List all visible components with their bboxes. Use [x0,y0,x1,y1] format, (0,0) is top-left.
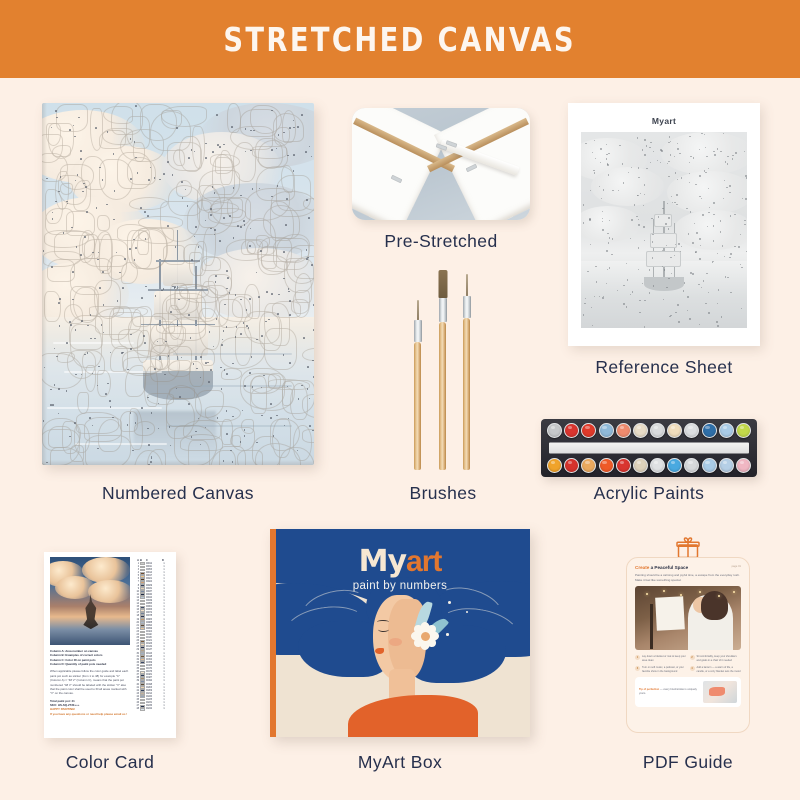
paint-pot [736,458,751,473]
canvas-artwork [42,103,314,465]
pot-quantity: 1 [162,693,166,695]
area-number: 1 [134,563,139,565]
color-code: 00236 [146,705,161,707]
color-code: 00115 [146,637,161,639]
area-number: 35 [134,668,139,670]
pot-quantity: 1 [162,603,166,605]
area-number: 6 [134,578,139,580]
area-number: 12 [134,597,139,599]
area-number: 32 [134,659,139,661]
color-code: 00024 [146,581,161,583]
color-code: 00099 [146,628,161,630]
pot-quantity: 1 [162,566,166,568]
acrylic-paints-image [541,419,757,477]
logo-text-my: My [359,544,406,579]
page-title: STRETCHED CANVAS [224,20,577,59]
pdf-tip: 4Add a lantern — a warm of life, a candl… [690,666,742,674]
paint-pot [684,423,699,438]
area-number: 10 [134,591,139,593]
pot-quantity: 1 [162,662,166,664]
color-code: 00110 [146,634,161,636]
pre-stretched-image [352,108,530,220]
sparkle-dot [448,601,451,604]
brush-bristles [417,300,419,320]
color-code: 00181 [146,674,161,676]
area-number: 46 [134,702,139,704]
color-code: 00242 [146,708,161,710]
paint-label-strip [549,443,749,454]
pot-quantity: 1 [162,659,166,661]
color-code: 00037 [146,591,161,593]
tip-text: Turn on soft music, a podcast, or your f… [642,666,687,674]
numbered-canvas-label: Numbered Canvas [42,483,314,504]
pre-stretched-label: Pre-Stretched [352,231,530,252]
area-number: 34 [134,665,139,667]
pot-quantity: 1 [162,705,166,707]
color-card-rows: 1000121200011130005314000141500017160002… [134,562,171,711]
area-number: 23 [134,631,139,633]
pot-quantity: 1 [162,569,166,571]
pot-quantity: 1 [162,572,166,574]
pdf-tip: 2Sit comfortably, keep your shoulders an… [690,655,742,663]
color-card-row: 48002421 [134,708,171,711]
area-number: 36 [134,671,139,673]
paint-pot [719,423,734,438]
eyebrow [377,620,389,624]
paint-pot [736,423,751,438]
paint-pot [684,458,699,473]
area-number: 21 [134,625,139,627]
paint-pot [547,458,562,473]
paint-pot [667,458,682,473]
pot-quantity: 1 [162,575,166,577]
area-number: 38 [134,677,139,679]
tip-text: Lay down a blanket or mat to keep your a… [642,655,687,663]
pot-quantity: 1 [162,702,166,704]
area-number: 7 [134,581,139,583]
color-code: 00094 [146,625,161,627]
numbered-canvas-image [42,103,314,465]
color-code: 00031 [146,588,161,590]
color-code: 00126 [146,643,161,645]
paint-pot [719,458,734,473]
pot-quantity: 1 [162,622,166,624]
sparkle-dot [446,633,449,636]
pot-quantity: 1 [162,578,166,580]
color-code: 00154 [146,659,161,661]
paint-pot [702,423,717,438]
paint-pot [650,458,665,473]
pot-quantity: 1 [162,708,166,710]
pot-quantity: 1 [162,585,166,587]
color-code: 00176 [146,671,161,673]
color-code: 00088 [146,622,161,624]
paint-pot [616,423,631,438]
pot-quantity: 1 [162,615,166,617]
color-code: 00231 [146,702,161,704]
pot-quantity: 1 [162,646,166,648]
sparkle-dot [466,611,468,613]
area-number: 48 [134,708,139,710]
pot-quantity: 1 [162,637,166,639]
area-number: 31 [134,656,139,658]
color-code: 00203 [146,687,161,689]
pot-quantity: 1 [162,591,166,593]
paint-pot [599,423,614,438]
pdf-guide-label: PDF Guide [626,752,750,773]
area-number: 44 [134,696,139,698]
color-code: 00083 [146,619,161,621]
pot-quantity: 1 [162,594,166,596]
pdf-note-bold: Tip of perfection [639,688,659,691]
color-code: 00143 [146,653,161,655]
reference-sheet-logo: Myart [581,116,747,126]
paint-pot [667,423,682,438]
area-number: 15 [134,606,139,608]
acrylic-paints-label: Acrylic Paints [541,483,757,504]
area-number: 5 [134,575,139,577]
pdf-guide-note: Tip of perfection — every brushstroke is… [635,677,741,707]
color-code: 00121 [146,640,161,642]
area-number: 33 [134,662,139,664]
color-code: 00040 [146,594,161,596]
brushes-image [406,258,480,470]
tip-text: Add a lantern — a warm of life, a candle… [697,666,742,674]
brush-handle [439,322,446,470]
box-spine-accent [270,529,276,737]
color-code: 00011 [146,566,161,568]
pdf-page-number: page 01 [732,565,741,568]
area-number: 3 [134,569,139,571]
paint-pot-row-bottom [546,458,752,473]
pot-quantity: 1 [162,643,166,645]
pot-quantity: 1 [162,606,166,608]
reference-sheet-image: Myart [568,103,760,346]
area-number: 30 [134,653,139,655]
box-tagline: paint by numbers [270,580,530,592]
paint-by-number-digits [42,103,314,465]
tip-number: 2 [690,655,695,660]
pot-quantity: 1 [162,563,166,565]
color-code: 00055 [146,603,161,605]
pdf-guide-photo [635,586,741,650]
pdf-title-rest: a Peaceful Space [649,565,688,570]
page-header: STRETCHED CANVAS [0,0,800,78]
pot-quantity: 1 [162,597,166,599]
canvas-edge-shadow [42,103,47,465]
cheek-blush [389,638,402,646]
tip-number: 3 [635,666,640,671]
pdf-tip: 1Lay down a blanket or mat to keep your … [635,655,687,663]
color-code: 00165 [146,665,161,667]
color-code: 00192 [146,680,161,682]
pot-quantity: 1 [162,699,166,701]
area-number: 27 [134,643,139,645]
daisy-flower [410,621,440,651]
pdf-title-accent: Create [635,565,649,570]
area-number: 4 [134,572,139,574]
color-code: 00014 [146,572,161,574]
area-number: 2 [134,566,139,568]
myart-box-image: Myart paint by numbers [270,529,530,737]
pot-quantity: 1 [162,640,166,642]
area-number: 47 [134,705,139,707]
pot-quantity: 1 [162,677,166,679]
area-number: 22 [134,628,139,630]
area-number: 41 [134,687,139,689]
pot-quantity: 1 [162,631,166,633]
color-code: 00066 [146,609,161,611]
color-card-preview-photo [50,557,130,645]
pdf-guide-tips: 1Lay down a blanket or mat to keep your … [635,655,741,673]
pot-quantity: 1 [162,581,166,583]
myart-box-label: MyArt Box [270,752,530,773]
color-swatch [140,708,145,711]
area-number: 18 [134,615,139,617]
pot-quantity: 1 [162,628,166,630]
paint-pot [650,423,665,438]
paint-pot [633,423,648,438]
area-number: 28 [134,646,139,648]
tip-text: Sit comfortably, keep your shoulders and… [697,655,742,663]
area-number: 37 [134,674,139,676]
brush-ferrule [463,296,471,318]
logo-text-art: art [406,545,441,578]
area-number: 43 [134,693,139,695]
area-number: 24 [134,634,139,636]
color-code: 00017 [146,575,161,577]
string-lights [635,586,741,650]
area-number: 45 [134,699,139,701]
color-code: 00198 [146,684,161,686]
pdf-note-thumbnail [703,681,737,703]
pot-quantity: 1 [162,674,166,676]
color-code: 00187 [146,677,161,679]
paint-pot [702,458,717,473]
paint-pot [599,458,614,473]
color-code: 00053 [146,569,161,571]
color-card-image: Column A: Area number on canvas Column B… [44,552,176,738]
color-card-left-column: Column A: Area number on canvas Column B… [50,557,130,734]
pot-quantity: 1 [162,656,166,658]
color-code: 00137 [146,649,161,651]
area-number: 19 [134,619,139,621]
pdf-note-text: Tip of perfection — every brushstroke is… [639,688,699,696]
pot-quantity: 1 [162,696,166,698]
color-code: 00214 [146,693,161,695]
pot-quantity: 1 [162,609,166,611]
canvas-edge-shadow [42,460,314,465]
paint-pot [564,423,579,438]
color-code: 00104 [146,631,161,633]
area-number: 16 [134,609,139,611]
area-number: 9 [134,588,139,590]
color-code: 00072 [146,612,161,614]
paint-pot [547,423,562,438]
pdf-guide-title: page 01 Create a Peaceful Space [635,565,741,570]
pdf-guide-subtitle: Painting should be a calming and joyful … [635,573,741,582]
color-code: 00078 [146,615,161,617]
pot-quantity: 1 [162,612,166,614]
area-number: 26 [134,640,139,642]
color-code: 00209 [146,690,161,692]
color-code: 00220 [146,696,161,698]
brush-bristles [466,274,468,296]
pot-quantity: 1 [162,634,166,636]
paint-pot-row-top [546,423,752,438]
area-number: 17 [134,612,139,614]
area-number: 40 [134,684,139,686]
pot-quantity: 1 [162,653,166,655]
area-number: 8 [134,585,139,587]
area-number: 13 [134,600,139,602]
reference-sheet-label: Reference Sheet [568,357,760,378]
reference-sheet-artwork [581,132,747,328]
tip-number: 4 [690,666,695,671]
pot-quantity: 1 [162,687,166,689]
pot-quantity: 1 [162,625,166,627]
paint-pot [581,423,596,438]
pot-quantity: 1 [162,649,166,651]
box-logo: Myart paint by numbers [270,544,530,592]
color-code: 00148 [146,656,161,658]
pot-quantity: 1 [162,619,166,621]
pot-quantity: 1 [162,671,166,673]
color-card-label: Color Card [40,752,180,773]
reference-number-dots [581,132,747,328]
legend-paragraph: When applicable please follow the color … [50,669,130,695]
area-number: 25 [134,637,139,639]
pot-quantity: 1 [162,668,166,670]
brush-bristles [438,270,447,298]
area-number: 39 [134,680,139,682]
pot-quantity: 1 [162,684,166,686]
paint-pot [633,458,648,473]
color-code: 00061 [146,606,161,608]
area-number: 42 [134,690,139,692]
area-number: 20 [134,622,139,624]
area-number: 11 [134,594,139,596]
gift-icon [676,537,700,559]
pot-quantity: 1 [162,588,166,590]
closed-eye [378,627,389,632]
pdf-guide-image: page 01 Create a Peaceful Space Painting… [626,557,750,733]
brushes-label: Brushes [356,483,530,504]
tip-number: 1 [635,655,640,660]
color-card-table: A B C D 10001212000111300053140001415000… [134,557,171,734]
pot-quantity: 1 [162,600,166,602]
pdf-tip: 3Turn on soft music, a podcast, or your … [635,666,687,674]
color-code: 00029 [146,585,161,587]
cloud-shape [88,580,130,603]
color-code: 00044 [146,597,161,599]
color-code: 00012 [146,563,161,565]
area-number: 29 [134,649,139,651]
area-number: 14 [134,603,139,605]
pot-quantity: 1 [162,690,166,692]
color-code: 00159 [146,662,161,664]
flower-center [421,632,430,641]
color-code: 00049 [146,600,161,602]
color-code: 00132 [146,646,161,648]
lips [375,648,384,654]
color-code: 00225 [146,699,161,701]
support-contact-text: If you have any questions or need help p… [50,712,130,716]
color-code: 00170 [146,668,161,670]
brush-ferrule [414,320,422,342]
pot-quantity: 1 [162,680,166,682]
pot-quantity: 1 [162,665,166,667]
brush-handle [463,318,470,470]
color-card-legend: Column A: Area number on canvas Column B… [50,649,130,716]
legend-line: Column D: Quantity of paint pots needed [50,662,130,666]
brush-ferrule [439,298,447,322]
paint-pot [616,458,631,473]
paint-pot [564,458,579,473]
color-code: 00021 [146,578,161,580]
paint-pot [581,458,596,473]
brush-handle [414,342,421,470]
